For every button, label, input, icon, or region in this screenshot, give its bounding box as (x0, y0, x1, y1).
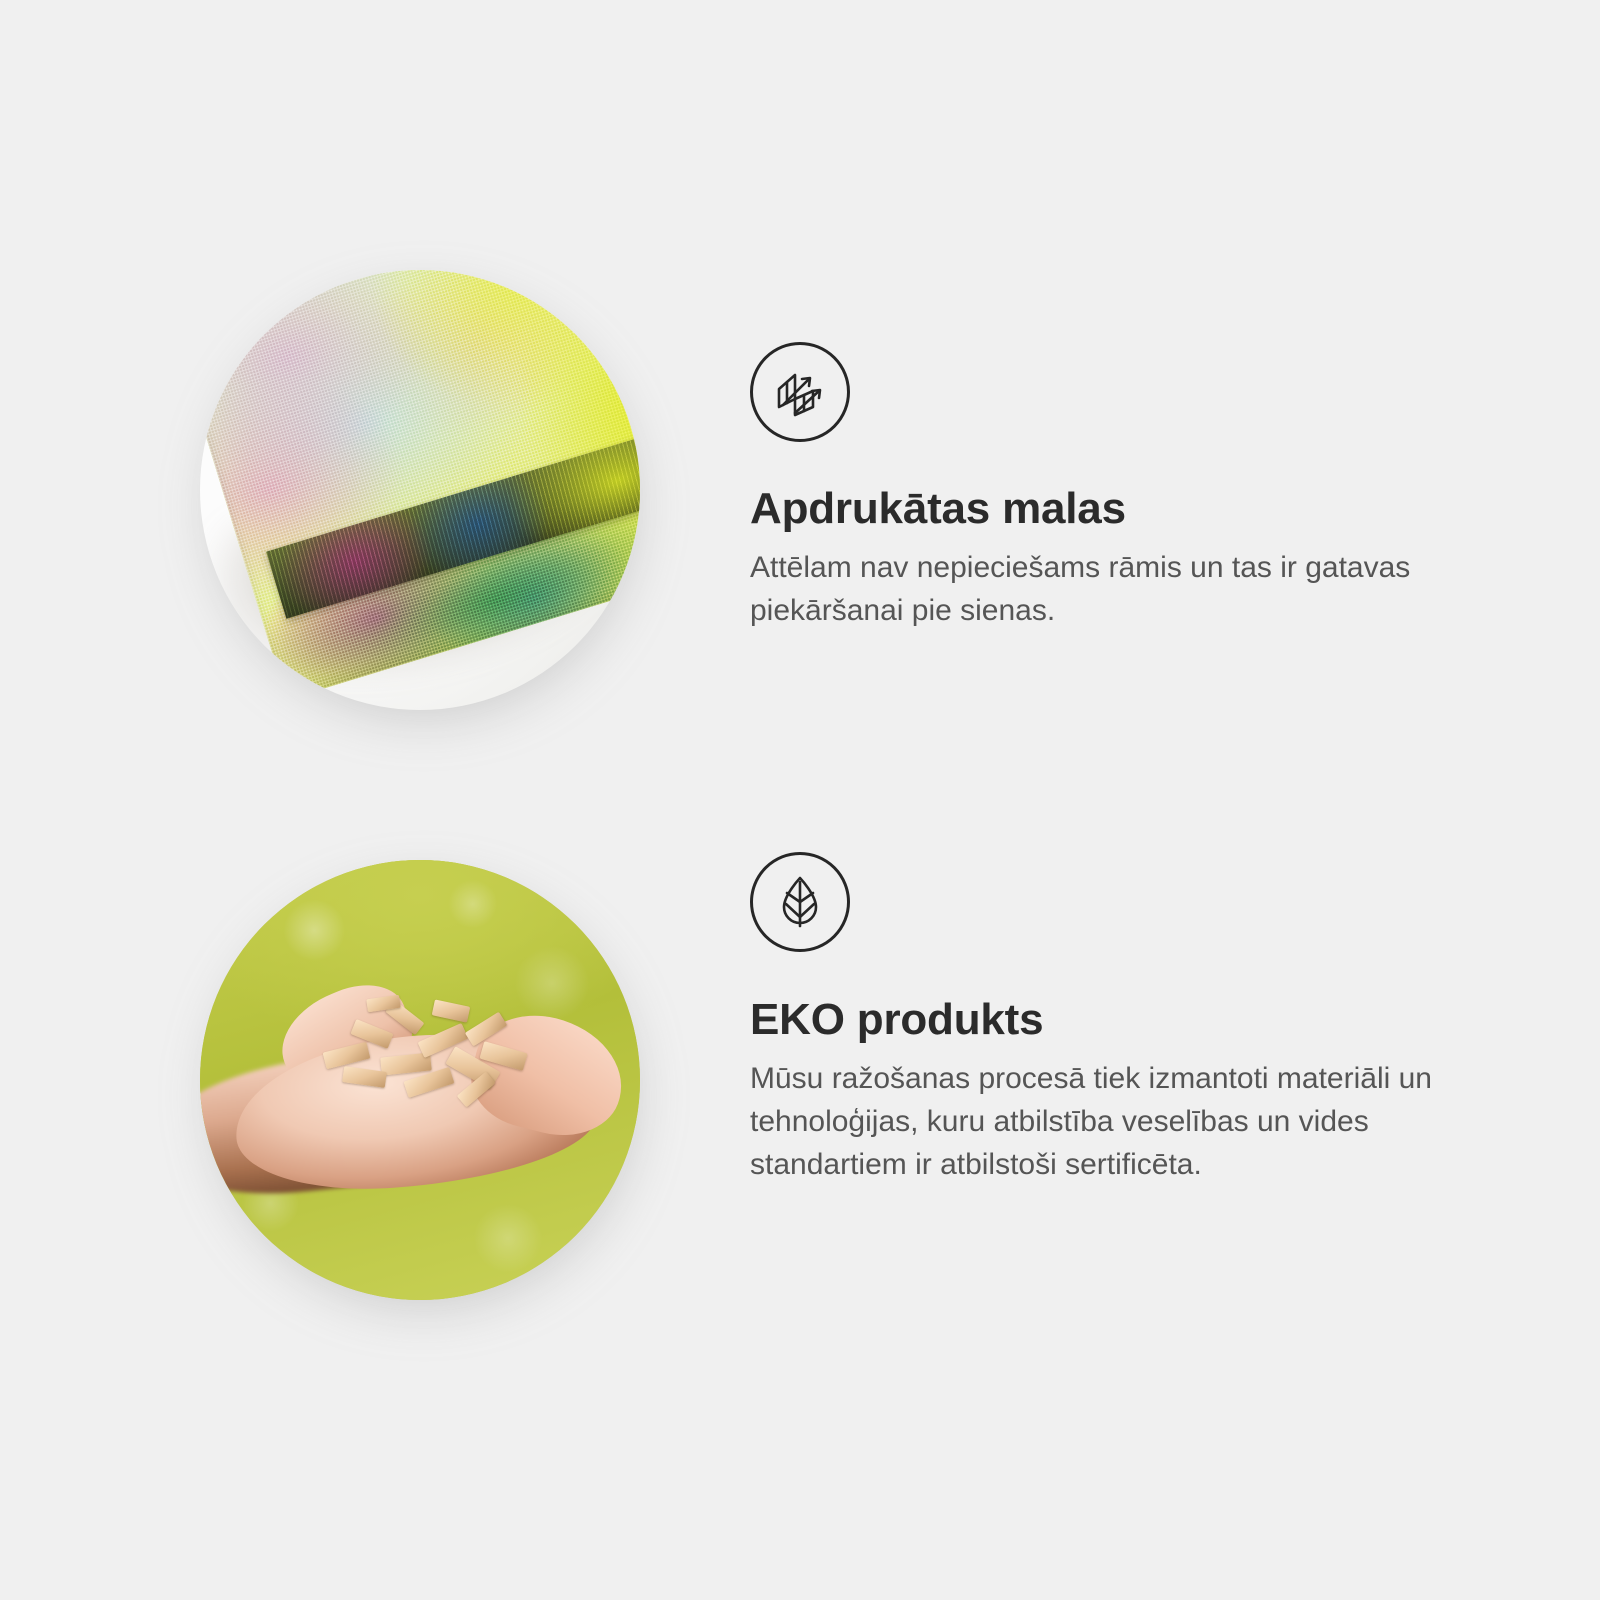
feature-text-column: Apdrukātas malas Attēlam nav nepieciešam… (750, 240, 1490, 633)
eco-scene-background (200, 860, 640, 1300)
printed-edges-icon (750, 342, 850, 442)
wood-chip-pile (314, 992, 552, 1124)
product-feature-infographic: Apdrukātas malas Attēlam nav nepieciešam… (0, 0, 1600, 1600)
photo-circle-mask (200, 270, 640, 710)
feature-title: EKO produkts (750, 996, 1490, 1044)
wood-chips-in-hands-photo (200, 860, 640, 1300)
photo-circle-mask (200, 860, 640, 1300)
canvas-scene-background (200, 270, 640, 710)
feature-block-printed-edges: Apdrukātas malas Attēlam nav nepieciešam… (0, 240, 1600, 880)
feature-text-column: EKO produkts Mūsu ražošanas procesā tiek… (750, 830, 1490, 1186)
feature-title: Apdrukātas malas (750, 485, 1490, 533)
feature-block-eco-product: EKO produkts Mūsu ražošanas procesā tiek… (0, 830, 1600, 1470)
feature-description: Mūsu ražošanas procesā tiek izmantoti ma… (750, 1058, 1460, 1186)
feature-description: Attēlam nav nepieciešams rāmis un tas ir… (750, 547, 1460, 632)
leaf-icon (750, 852, 850, 952)
canvas-print-corner-photo (200, 270, 640, 710)
